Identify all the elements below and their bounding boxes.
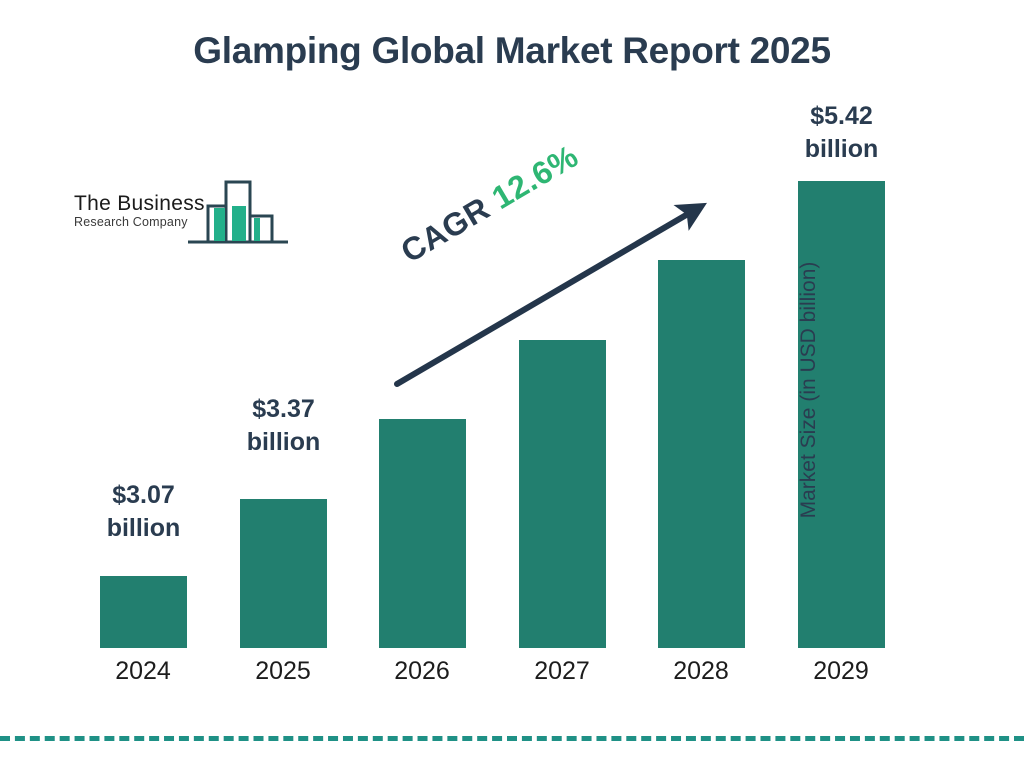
- chart-page: Glamping Global Market Report 2025 The B…: [0, 0, 1024, 768]
- growth-arrow: [0, 0, 1024, 768]
- bar-chart-plot: 2024 2025 2026 2027 2028 2029 $3.07 bill…: [0, 0, 1024, 768]
- bottom-divider: [0, 736, 1024, 741]
- y-axis-title: Market Size (in USD billion): [797, 225, 821, 555]
